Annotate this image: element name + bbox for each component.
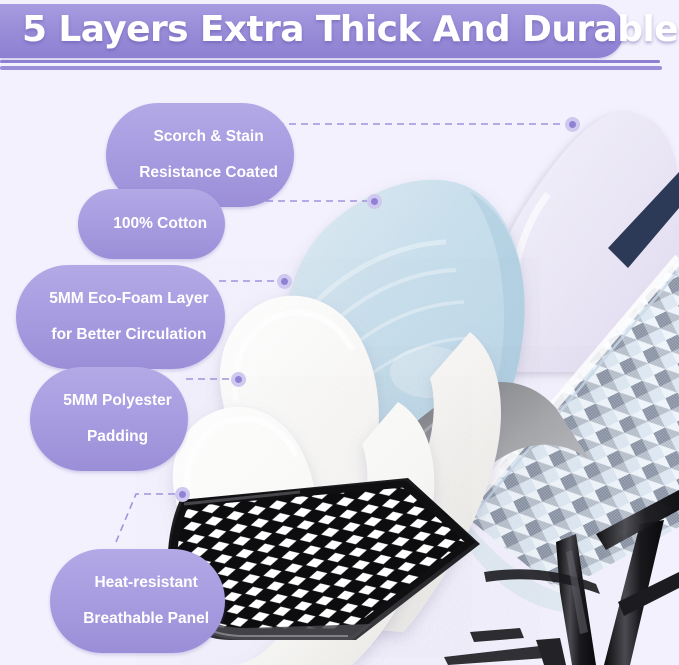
callout-breathable-panel: Heat-resistant Breathable Panel — [50, 549, 225, 653]
callout-polyester-padding: 5MM Polyester Padding — [30, 367, 188, 471]
callout-eco-foam: 5MM Eco-Foam Layer for Better Circulatio… — [16, 265, 225, 369]
callout-dot-polyester-padding — [231, 372, 246, 387]
callout-dot-eco-foam — [277, 274, 292, 289]
callout-dot-breathable-panel — [175, 487, 190, 502]
page-title: 5 Layers Extra Thick And Durable — [22, 9, 678, 50]
callout-line-1: 5MM Polyester — [63, 392, 172, 409]
header-banner: 5 Layers Extra Thick And Durable — [0, 4, 624, 58]
callout-line-1: Scorch & Stain — [153, 128, 263, 145]
divider-line-bottom — [0, 66, 662, 70]
callout-line-1: 5MM Eco-Foam Layer — [49, 290, 208, 307]
infographic-canvas: 5 Layers Extra Thick And Durable Scorch … — [0, 0, 679, 665]
callout-line-1: 100% Cotton — [113, 215, 207, 232]
callout-line-2: for Better Circulation — [51, 326, 206, 343]
callout-line-1: Heat-resistant — [94, 574, 197, 591]
divider-line-top — [0, 60, 660, 63]
callout-dot-scorch-stain — [565, 117, 580, 132]
callout-dot-cotton — [367, 194, 382, 209]
callout-line-2: Resistance Coated — [139, 164, 278, 181]
callout-line-2: Breathable Panel — [83, 610, 209, 627]
callout-cotton: 100% Cotton — [78, 189, 225, 259]
callout-line-2: Padding — [87, 428, 148, 445]
